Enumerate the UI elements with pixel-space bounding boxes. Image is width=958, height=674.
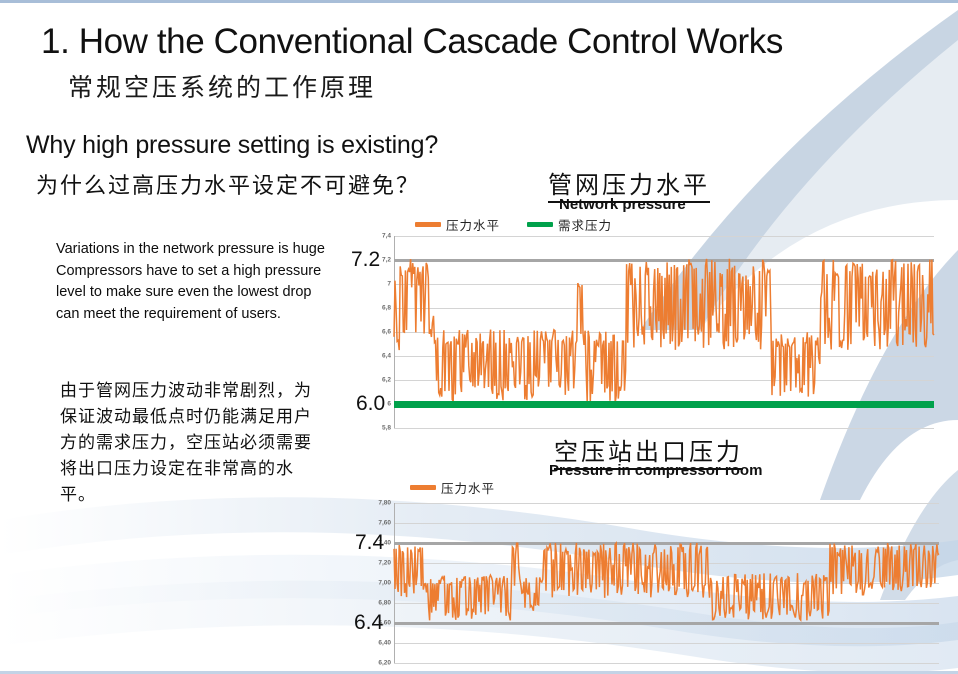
gridline xyxy=(394,663,939,664)
body-paragraph-chinese: 由于管网压力波动非常剧烈，为保证波动最低点时仍能满足用户方的需求压力，空压站必须… xyxy=(60,378,328,508)
chart-2-series-path xyxy=(394,503,939,663)
y-axis-tick-label: 6,80 xyxy=(378,600,391,607)
chart-1-plot-area: 7,47,276,86,66,46,265,8 xyxy=(394,236,934,428)
y-axis-tick-label: 6,4 xyxy=(382,353,391,360)
demand-pressure-line xyxy=(394,401,934,408)
y-axis-tick-label: 6,6 xyxy=(382,329,391,336)
y-axis-tick-label: 7,2 xyxy=(382,257,391,264)
y-axis-tick-label: 6,2 xyxy=(382,377,391,384)
y-axis-tick-label: 7,20 xyxy=(378,560,391,567)
slide-title-chinese: 常规空压系统的工作原理 xyxy=(68,68,376,104)
y-axis-tick-label: 6,40 xyxy=(378,640,391,647)
y-axis-tick-label: 6,20 xyxy=(378,660,391,667)
chart-2-annotation-value: 6.4 xyxy=(354,611,383,635)
question-english: Why high pressure setting is existing? xyxy=(26,131,438,160)
y-axis-tick-label: 7,60 xyxy=(378,520,391,527)
y-axis-tick-label: 7,4 xyxy=(382,233,391,240)
body-paragraph-english: Variations in the network pressure is hu… xyxy=(56,239,334,325)
chart-1-annotation-value: 7.2 xyxy=(351,248,380,272)
chart-2-title-english: Pressure in compressor room xyxy=(549,462,762,479)
chart-2-annotation-value: 7.4 xyxy=(355,531,384,555)
y-axis-tick-label: 7 xyxy=(387,281,391,288)
chart-1-annotation-value: 6.0 xyxy=(356,392,385,416)
chart-2-plot-area: 7,807,607,407,207,006,806,606,406,20 xyxy=(394,503,939,663)
legend-label: 压力水平 xyxy=(441,478,495,497)
chart-1-title-english: Network pressure xyxy=(559,196,686,213)
chart-1-series-path xyxy=(394,236,934,428)
legend-label: 需求压力 xyxy=(558,215,612,234)
top-border-line xyxy=(0,0,958,3)
chart-2-legend-item-1: 压力水平 xyxy=(410,478,495,497)
chart-1-legend-item-2: 需求压力 xyxy=(527,215,612,234)
chart-1-legend-item-1: 压力水平 xyxy=(415,215,500,234)
y-axis-tick-label: 7,80 xyxy=(378,500,391,507)
slide-title-english: 1. How the Conventional Cascade Control … xyxy=(41,22,783,62)
legend-label: 压力水平 xyxy=(446,215,500,234)
y-axis-tick-label: 6 xyxy=(387,401,391,408)
y-axis-tick-label: 7,00 xyxy=(378,580,391,587)
legend-color-swatch xyxy=(527,222,553,227)
y-axis-tick-label: 6,8 xyxy=(382,305,391,312)
gridline xyxy=(394,428,934,429)
legend-color-swatch xyxy=(415,222,441,227)
legend-color-swatch xyxy=(410,485,436,490)
y-axis-tick-label: 5,8 xyxy=(382,425,391,432)
slide-canvas: 1. How the Conventional Cascade Control … xyxy=(0,0,958,674)
question-chinese: 为什么过高压力水平设定不可避免？ xyxy=(36,168,420,200)
